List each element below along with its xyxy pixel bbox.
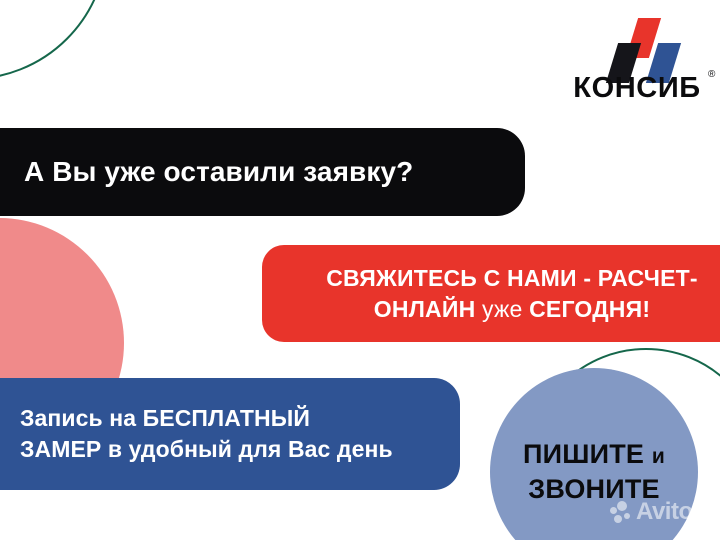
avito-watermark-label: Avito — [636, 500, 693, 524]
logo-mark-icon — [562, 16, 712, 74]
contact-banner-line1: СВЯЖИТЕСЬ С НАМИ - РАСЧЕТ- — [326, 265, 698, 291]
logo-wordmark: КОНСИБ ® — [562, 74, 712, 103]
measure-banner: Запись на БЕСПЛАТНЫЙ ЗАМЕР в удобный для… — [0, 378, 460, 490]
avito-dots-icon — [610, 501, 632, 523]
promo-banner-canvas: КОНСИБ ® А Вы уже оставили заявку? СВЯЖИ… — [0, 0, 720, 540]
green-ring-decoration-top — [0, 0, 108, 80]
brand-logo: КОНСИБ ® — [562, 16, 712, 108]
contact-banner-today: СЕГОДНЯ! — [529, 296, 650, 322]
logo-wordmark-text: КОНСИБ — [573, 72, 700, 104]
contact-banner-text: СВЯЖИТЕСЬ С НАМИ - РАСЧЕТ- ОНЛАЙН уже СЕ… — [326, 263, 698, 324]
cta-write: ПИШИТЕ — [523, 439, 644, 469]
contact-banner-uzhe — [475, 296, 482, 322]
contact-banner-online: ОНЛАЙН — [374, 296, 476, 322]
cta-space — [644, 439, 652, 469]
registered-trademark-icon: ® — [708, 70, 716, 80]
question-banner-text: А Вы уже оставили заявку? — [24, 156, 413, 188]
measure-banner-tail: в удобный для Вас день — [108, 436, 393, 462]
measure-banner-free: БЕСПЛАТНЫЙ — [143, 405, 310, 431]
avito-watermark: Avito — [610, 500, 693, 524]
measure-banner-text: Запись на БЕСПЛАТНЫЙ ЗАМЕР в удобный для… — [20, 403, 393, 466]
cta-conjunction: и — [652, 445, 665, 468]
measure-banner-zapis: Запись на — [20, 405, 136, 431]
cta-line-1: ПИШИТЕ и — [523, 437, 665, 472]
question-banner: А Вы уже оставили заявку? — [0, 128, 525, 216]
contact-banner: СВЯЖИТЕСЬ С НАМИ - РАСЧЕТ- ОНЛАЙН уже СЕ… — [262, 245, 720, 342]
measure-banner-zamer: ЗАМЕР — [20, 436, 101, 462]
